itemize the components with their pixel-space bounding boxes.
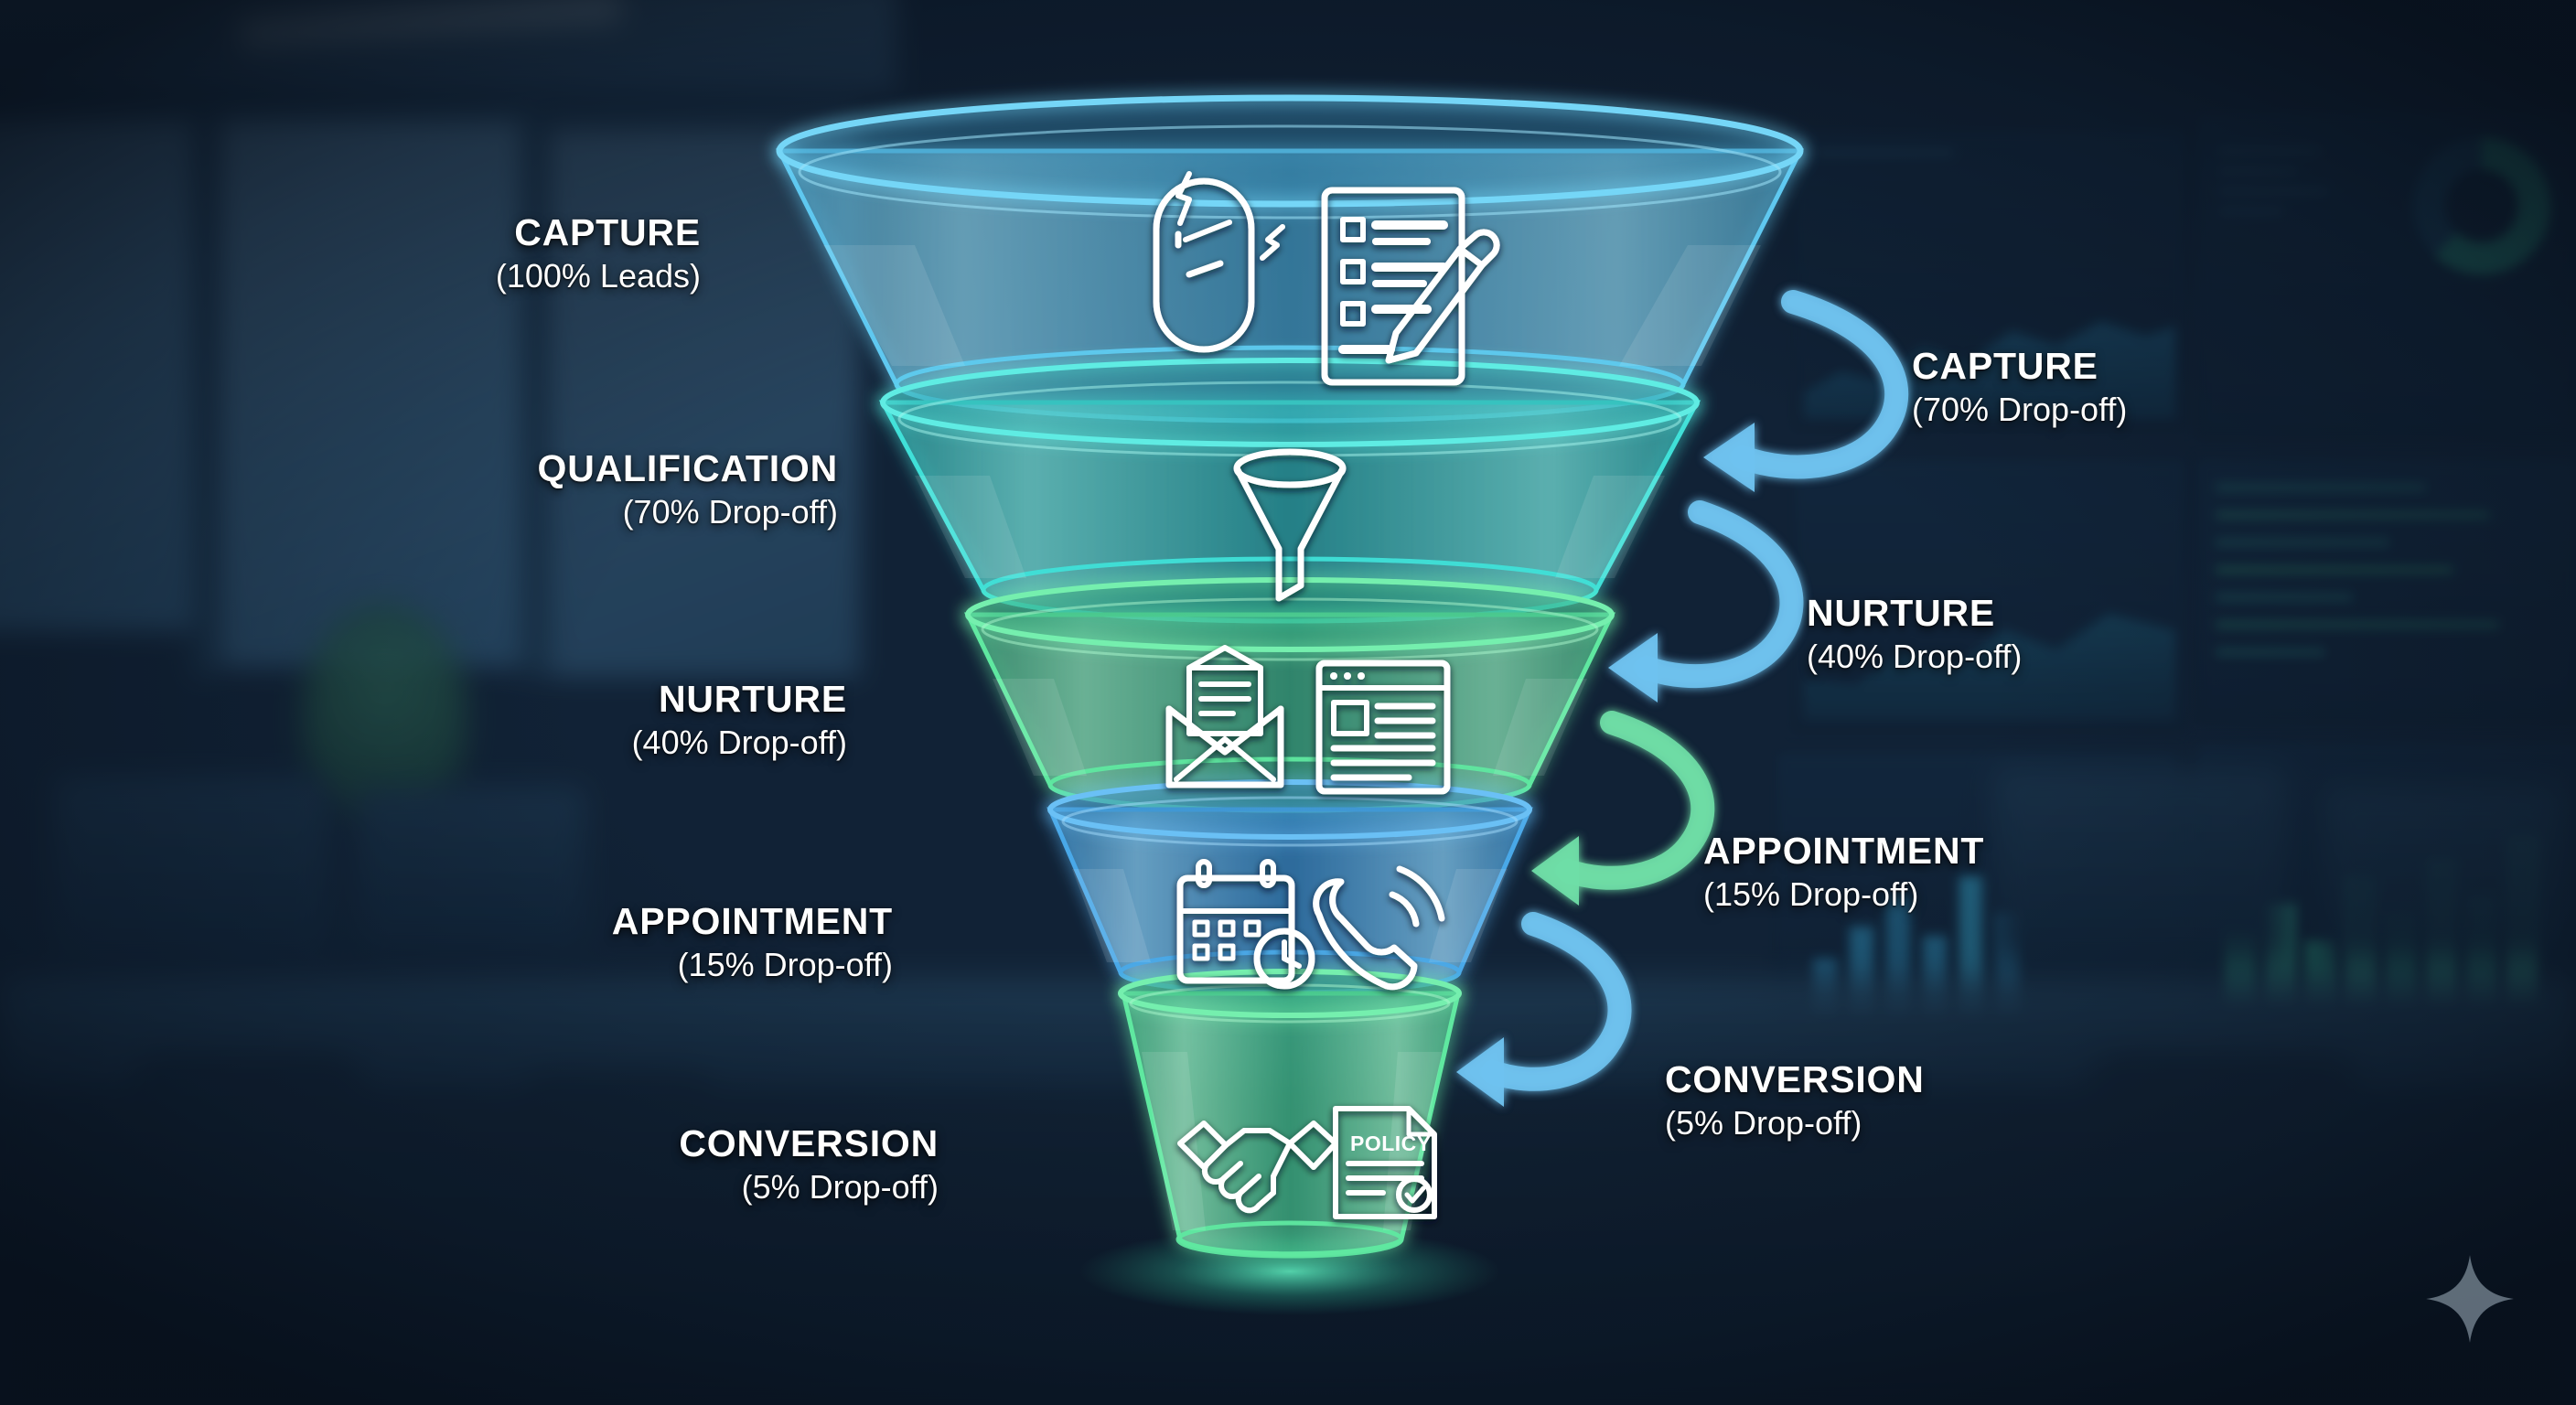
stage-subtitle: (40% Drop-off) xyxy=(632,724,847,762)
stage-title: CONVERSION xyxy=(1665,1059,1925,1101)
stage-title: CAPTURE xyxy=(496,212,701,254)
stage-subtitle: (5% Drop-off) xyxy=(1665,1104,1925,1142)
sparkle-icon xyxy=(2422,1251,2517,1346)
funnel-infographic: POLICY CAPTURE xyxy=(0,0,2576,1405)
dropoff-arrow-nurture xyxy=(1608,512,1791,702)
dropoff-label-appointment-right: APPOINTMENT (15% Drop-off) xyxy=(1703,831,1984,914)
stage-title: APPOINTMENT xyxy=(1703,831,1984,873)
dropoff-arrow-appointment xyxy=(1531,723,1702,906)
stage-label-capture-left: CAPTURE (100% Leads) xyxy=(496,212,701,295)
stage-subtitle: (100% Leads) xyxy=(496,257,701,295)
stage-subtitle: (15% Drop-off) xyxy=(1703,875,1984,914)
stage-title: APPOINTMENT xyxy=(612,901,893,943)
stage-title: NURTURE xyxy=(632,679,847,721)
dropoff-label-conversion-right: CONVERSION (5% Drop-off) xyxy=(1665,1059,1925,1142)
funnel-graphic: POLICY xyxy=(0,0,2576,1405)
stage-subtitle: (5% Drop-off) xyxy=(679,1168,939,1207)
stage-subtitle: (70% Drop-off) xyxy=(1912,391,2127,429)
stage-title: NURTURE xyxy=(1807,593,2022,635)
stage-subtitle: (70% Drop-off) xyxy=(538,493,839,531)
dropoff-label-nurture-right: NURTURE (40% Drop-off) xyxy=(1807,593,2022,676)
stage-title: CONVERSION xyxy=(679,1123,939,1165)
stage-subtitle: (15% Drop-off) xyxy=(612,946,893,984)
stage-title: CAPTURE xyxy=(1912,346,2127,388)
policy-document-label: POLICY xyxy=(1350,1132,1432,1155)
dropoff-arrow-capture xyxy=(1703,302,1896,492)
stage-label-appointment-left: APPOINTMENT (15% Drop-off) xyxy=(612,901,893,984)
stage-label-nurture-left: NURTURE (40% Drop-off) xyxy=(632,679,847,762)
dropoff-label-capture-right: CAPTURE (70% Drop-off) xyxy=(1912,346,2127,429)
dropoff-arrow-conversion xyxy=(1456,924,1620,1107)
stage-title: QUALIFICATION xyxy=(538,448,839,490)
stage-label-conversion-left: CONVERSION (5% Drop-off) xyxy=(679,1123,939,1207)
stage-label-qualification-left: QUALIFICATION (70% Drop-off) xyxy=(538,448,839,531)
stage-subtitle: (40% Drop-off) xyxy=(1807,638,2022,676)
funnel-tier-nurture[interactable] xyxy=(968,580,1612,810)
